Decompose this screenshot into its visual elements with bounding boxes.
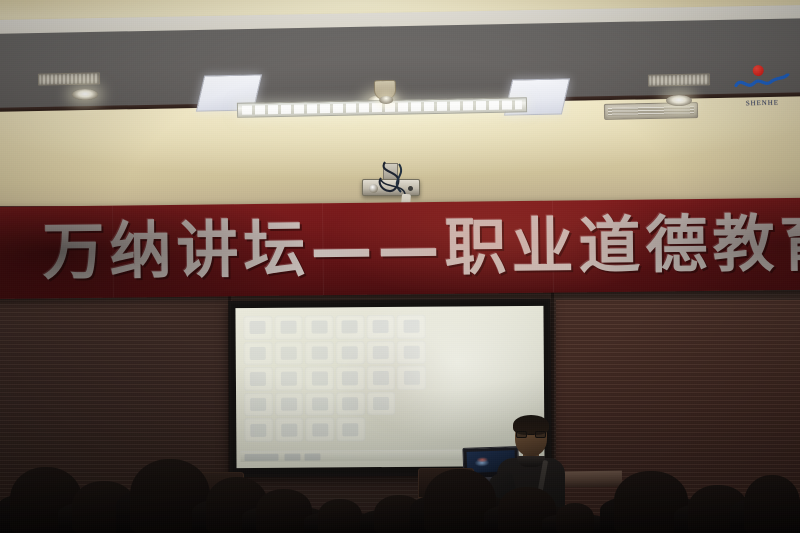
desktop-icon — [336, 392, 365, 416]
event-banner: 万纳讲坛——职业道德教育讲座 — [0, 198, 800, 299]
logo-wordmark: SHENHE — [733, 98, 791, 107]
shenhe-logo: SHENHE — [733, 62, 792, 107]
audience-head — [556, 503, 594, 533]
banner-title-text: 万纳讲坛——职业道德教育讲座 — [42, 204, 800, 291]
desktop-icon — [274, 316, 303, 340]
audience-head — [318, 499, 362, 533]
desktop-icon — [335, 315, 364, 339]
desktop-icon — [243, 316, 272, 340]
desktop-icon — [397, 392, 426, 416]
audience-head — [744, 475, 800, 533]
desktop-icon — [305, 315, 334, 339]
desktop-icon — [366, 341, 395, 365]
desktop-icon — [244, 341, 273, 365]
desktop-icon — [397, 366, 426, 390]
desktop-icon — [367, 392, 396, 416]
desktop-icon — [336, 341, 365, 365]
hvac-vent-icon — [648, 73, 710, 86]
ceiling-speaker-icon — [374, 80, 396, 100]
desktop-icon — [244, 393, 273, 417]
desktop-icon — [274, 341, 303, 365]
hvac-vent-icon — [38, 72, 100, 85]
desktop-icon — [397, 340, 426, 364]
desktop-icon — [275, 367, 304, 391]
logo-wave-icon — [733, 73, 791, 92]
desktop-icon — [366, 315, 395, 339]
desktop-icon — [305, 341, 334, 365]
desktop-icon — [397, 315, 426, 339]
desktop-icon — [244, 367, 273, 391]
lecture-hall-photo: SHENHE 万纳讲坛——职业道德教育讲座 — [0, 0, 800, 533]
audience-silhouettes — [0, 423, 800, 533]
spot-light-icon — [72, 89, 98, 100]
desktop-icon — [336, 366, 365, 390]
desktop-icon — [305, 367, 334, 391]
desktop-icon — [367, 366, 396, 390]
spot-light-icon — [666, 95, 692, 106]
desktop-icon — [305, 392, 334, 416]
desktop-icon — [275, 392, 304, 416]
